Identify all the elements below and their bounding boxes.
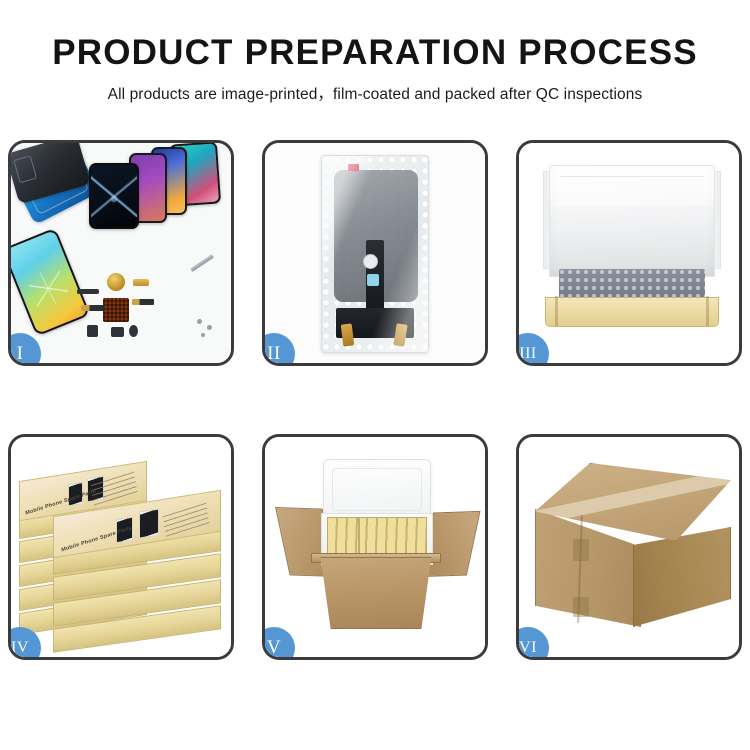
page-title: PRODUCT PREPARATION PROCESS bbox=[0, 35, 750, 72]
part-camera-module bbox=[111, 327, 124, 337]
part-chip-array bbox=[103, 298, 129, 322]
carton-patch-lower bbox=[573, 597, 589, 617]
photo-stacked-retail-boxes: Mobile Phone Spare Parts Mobile Phone Sp… bbox=[11, 437, 231, 657]
phone-large-tilted-cracked bbox=[11, 228, 90, 337]
part-screw-c bbox=[201, 333, 205, 337]
box-spec-lines bbox=[162, 500, 210, 539]
process-step-2: II bbox=[262, 140, 488, 366]
photo-carton-packed-with-boxes bbox=[265, 437, 485, 657]
process-step-1: I bbox=[8, 140, 234, 366]
photo-single-unit-in-cream-box-with-foam bbox=[519, 143, 739, 363]
page-subtitle: All products are image-printed，film-coat… bbox=[0, 82, 750, 104]
part-flex-cable-right bbox=[132, 299, 154, 305]
phone-black-cracked-screen bbox=[89, 163, 139, 229]
red-label-tab bbox=[348, 164, 359, 171]
part-ribbon-strip bbox=[77, 289, 99, 294]
box-art-phone-b bbox=[139, 509, 159, 539]
part-connector-block bbox=[87, 325, 98, 337]
part-gold-bracket bbox=[133, 279, 149, 286]
carton-patch-upper bbox=[573, 539, 589, 561]
carton-face-right bbox=[633, 527, 731, 627]
part-speaker-coil bbox=[107, 273, 125, 291]
retail-box-stack: Mobile Phone Spare Parts Mobile Phone Sp… bbox=[19, 455, 227, 647]
part-vibration-motor bbox=[129, 325, 138, 337]
part-screw-b bbox=[207, 325, 212, 330]
process-step-grid: I II bbox=[8, 140, 742, 688]
product-preparation-infographic: PRODUCT PREPARATION PROCESS All products… bbox=[0, 0, 750, 750]
crack-pattern bbox=[91, 165, 137, 227]
process-step-4: Mobile Phone Spare Parts Mobile Phone Sp… bbox=[8, 434, 234, 660]
sealed-shipping-carton bbox=[535, 463, 731, 631]
cream-mailer-box bbox=[543, 165, 721, 335]
foam-lid bbox=[549, 165, 715, 277]
photo-sealed-shipping-carton bbox=[519, 437, 739, 657]
connector-bar bbox=[336, 308, 414, 338]
photo-assorted-phones-and-spare-parts bbox=[11, 143, 231, 363]
process-step-6: VI bbox=[516, 434, 742, 660]
part-tweezers bbox=[190, 254, 214, 272]
box-spec-lines bbox=[90, 469, 138, 508]
process-step-5: V bbox=[262, 434, 488, 660]
process-step-3: III bbox=[516, 140, 742, 366]
foam-lid bbox=[323, 459, 431, 519]
bubble-wrap-bag bbox=[321, 155, 429, 353]
photo-bubble-wrapped-screen-assembly bbox=[265, 143, 485, 363]
open-shipping-carton bbox=[283, 459, 473, 637]
part-screw-a bbox=[197, 319, 202, 324]
carton-front-panel bbox=[313, 557, 439, 629]
part-flex-cable-left bbox=[81, 305, 105, 311]
box-front-panel bbox=[545, 297, 719, 327]
header: PRODUCT PREPARATION PROCESS All products… bbox=[0, 0, 750, 104]
